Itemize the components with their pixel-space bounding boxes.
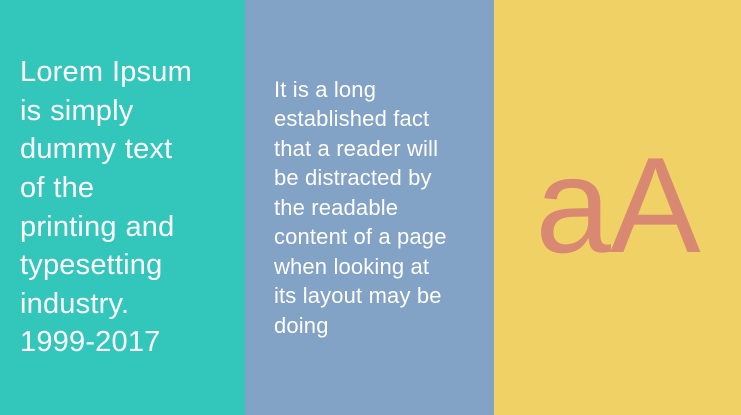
panel-heading-teal: Lorem Ipsum is simply dummy text of the … [0, 0, 245, 415]
panel-body-blue: It is a long established fact that a rea… [245, 0, 494, 415]
glyph-specimen-aA: aA [535, 137, 699, 279]
body-copy-sample-text: It is a long established fact that a rea… [245, 75, 494, 341]
specimen-board: Lorem Ipsum is simply dummy text of the … [0, 0, 741, 415]
heading-sample-text: Lorem Ipsum is simply dummy text of the … [0, 53, 245, 362]
panel-specimen-yellow: aA [494, 0, 741, 415]
